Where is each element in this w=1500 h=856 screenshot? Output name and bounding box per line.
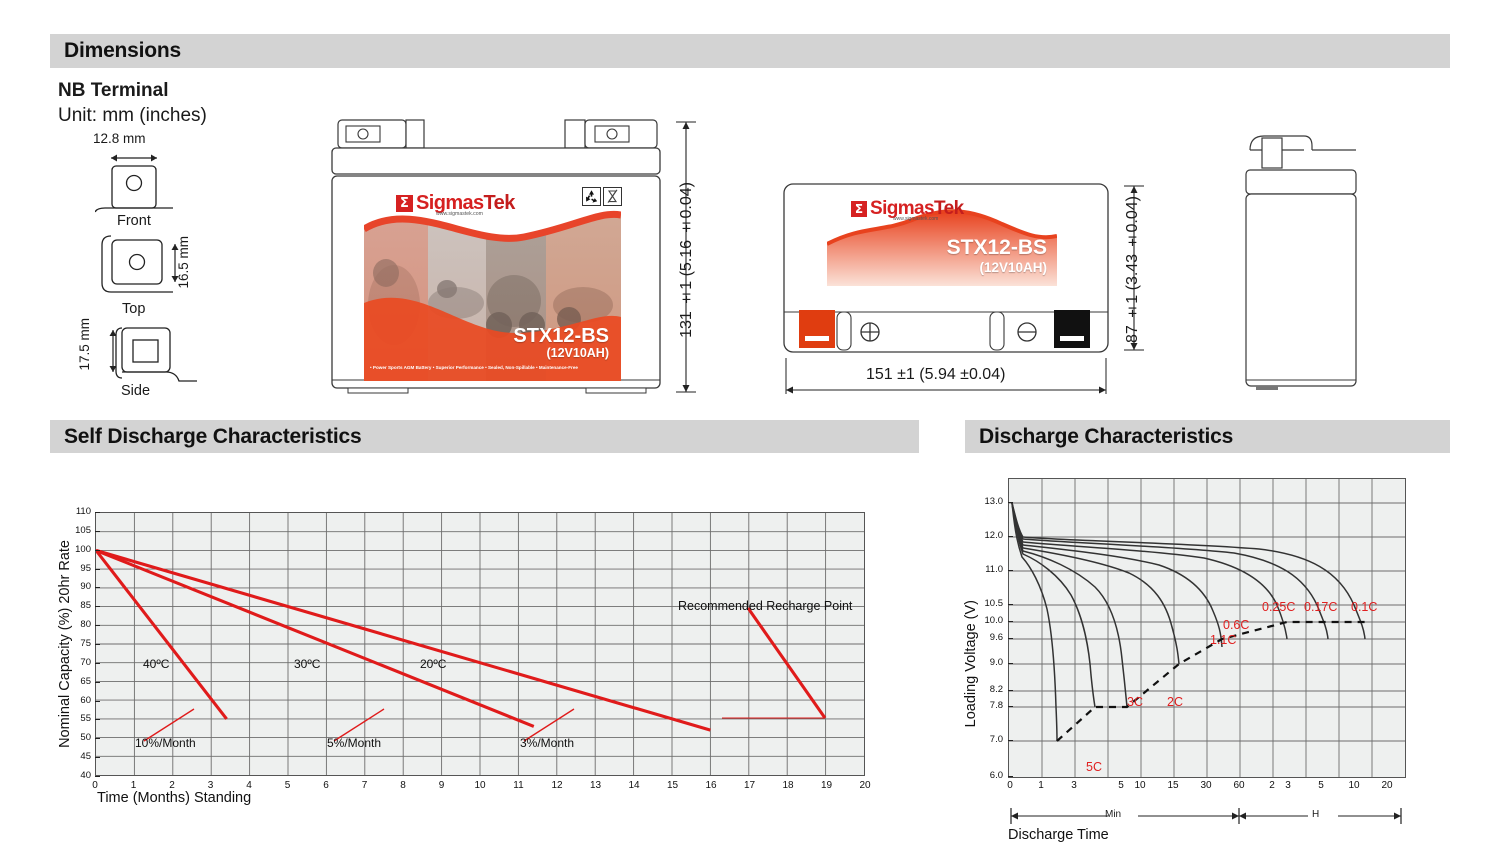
- discharge-x-tick: 3: [1062, 780, 1086, 791]
- annotation-40c: 40ºC: [143, 657, 169, 671]
- self-discharge-y-tick-mark: [95, 606, 100, 607]
- self-discharge-y-tick-mark: [95, 512, 100, 513]
- self-discharge-y-tick: 55: [63, 713, 91, 724]
- self-discharge-y-tick: 45: [63, 751, 91, 762]
- discharge-x-tick: 3: [1276, 780, 1300, 791]
- self-discharge-y-tick-mark: [95, 531, 100, 532]
- self-discharge-y-tick-mark: [95, 569, 100, 570]
- sigma-mark-icon-top: Σ: [851, 201, 867, 217]
- terminal-front-drawing: [95, 150, 225, 232]
- discharge-y-tick-mark: [1008, 621, 1013, 622]
- discharge-y-tick-mark: [1008, 740, 1013, 741]
- annotation-3pct-month: 3%/Month: [520, 736, 574, 750]
- self-discharge-plot: [95, 512, 865, 776]
- discharge-y-tick: 13.0: [970, 496, 1003, 507]
- self-discharge-x-tick: 13: [584, 780, 608, 791]
- discharge-y-tick-mark: [1008, 570, 1013, 571]
- discharge-y-tick-mark: [1008, 663, 1013, 664]
- discharge-y-tick: 7.8: [970, 700, 1003, 711]
- annotation-5pct-month: 5%/Month: [327, 736, 381, 750]
- self-discharge-x-tick: 17: [738, 780, 762, 791]
- self-discharge-x-tick: 11: [507, 780, 531, 791]
- self-discharge-x-tick: 8: [391, 780, 415, 791]
- self-discharge-y-tick-mark: [95, 682, 100, 683]
- self-discharge-y-tick: 60: [63, 695, 91, 706]
- discharge-x-tick: 5: [1309, 780, 1333, 791]
- battery-width-dim-label: 87 ±1 (3.43 ±0.04): [1124, 196, 1142, 343]
- battery-model: STX12-BS: [464, 325, 609, 348]
- self-discharge-x-tick: 15: [661, 780, 685, 791]
- curve-label-0-17c: 0.17C: [1304, 600, 1337, 614]
- discharge-x-tick: 60: [1227, 780, 1251, 791]
- terminal-view-side-label: Side: [121, 383, 150, 399]
- self-discharge-y-tick: 95: [63, 563, 91, 574]
- battery-length-dim-label: 151 ±1 (5.94 ±0.04): [866, 366, 1005, 384]
- curve-label-3c: 3C: [1127, 695, 1143, 709]
- discharge-x-tick: 10: [1128, 780, 1152, 791]
- section-header-discharge: Discharge Characteristics: [965, 420, 1450, 453]
- self-discharge-y-tick-mark: [95, 776, 100, 777]
- curve-label-5c: 5C: [1086, 760, 1102, 774]
- self-discharge-x-tick: 20: [853, 780, 877, 791]
- self-discharge-y-tick: 50: [63, 732, 91, 743]
- terminal-side-drawing: [100, 322, 230, 390]
- nb-terminal-title: NB Terminal: [58, 80, 169, 102]
- curve-label-1-1c: 1.1C: [1210, 633, 1236, 647]
- discharge-svg: [1009, 479, 1405, 777]
- axis-group-label-min: Min: [1105, 809, 1121, 820]
- self-discharge-x-tick: 12: [545, 780, 569, 791]
- sigma-mark-icon: Σ: [396, 195, 413, 212]
- self-discharge-y-tick: 105: [63, 525, 91, 536]
- section-header-dimensions: Dimensions: [50, 34, 1450, 68]
- annotation-20c: 20ºC: [420, 657, 446, 671]
- self-discharge-y-tick-mark: [95, 701, 100, 702]
- discharge-y-tick-mark: [1008, 536, 1013, 537]
- section-header-self-discharge: Self Discharge Characteristics: [50, 420, 919, 453]
- curve-label-2c: 2C: [1167, 695, 1183, 709]
- self-discharge-x-tick: 14: [622, 780, 646, 791]
- self-discharge-x-tick: 19: [815, 780, 839, 791]
- discharge-y-tick: 10.0: [970, 615, 1003, 626]
- self-discharge-x-tick: 10: [468, 780, 492, 791]
- battery-top-label: Σ SigmasTek www.sigmastek.com STX12-BS (…: [827, 192, 1057, 286]
- self-discharge-y-tick-mark: [95, 625, 100, 626]
- self-discharge-y-tick: 90: [63, 581, 91, 592]
- discharge-y-tick-mark: [1008, 690, 1013, 691]
- discharge-y-tick: 12.0: [970, 530, 1003, 541]
- unit-label: Unit: mm (inches): [58, 105, 207, 127]
- battery-front-label: Σ SigmasTek www.sigmastek.com STX12-BS (…: [364, 185, 621, 381]
- battery-height-dim-label: 131 ±1 (5.16 ±0.04): [678, 182, 696, 338]
- self-discharge-y-tick: 85: [63, 600, 91, 611]
- crossed-out-bin-icon: [603, 187, 622, 206]
- self-discharge-y-tick-mark: [95, 663, 100, 664]
- discharge-plot: [1008, 478, 1406, 778]
- self-discharge-x-tick: 16: [699, 780, 723, 791]
- discharge-y-tick: 9.6: [970, 632, 1003, 643]
- discharge-y-tick: 7.0: [970, 734, 1003, 745]
- discharge-y-tick-mark: [1008, 776, 1013, 777]
- annotation-30c: 30ºC: [294, 657, 320, 671]
- self-discharge-x-axis-title: Time (Months) Standing: [97, 790, 251, 806]
- discharge-x-tick: 15: [1161, 780, 1185, 791]
- terminal-top-drawing: [95, 232, 225, 302]
- self-discharge-svg: [96, 513, 864, 775]
- self-discharge-x-tick: 18: [776, 780, 800, 791]
- self-discharge-y-tick-mark: [95, 644, 100, 645]
- self-discharge-x-tick: 6: [314, 780, 338, 791]
- discharge-y-tick: 9.0: [970, 657, 1003, 668]
- discharge-y-tick: 10.5: [970, 598, 1003, 609]
- annotation-recommended-recharge-point: Recommended Recharge Point: [678, 599, 852, 613]
- discharge-y-tick-mark: [1008, 502, 1013, 503]
- discharge-y-tick: 11.0: [970, 564, 1003, 575]
- section-title-self-discharge: Self Discharge Characteristics: [64, 425, 361, 449]
- self-discharge-y-tick: 70: [63, 657, 91, 668]
- self-discharge-y-tick: 100: [63, 544, 91, 555]
- terminal-view-top-label: Top: [122, 301, 145, 317]
- battery-side-profile-view: [1238, 118, 1358, 396]
- discharge-x-tick: 0: [998, 780, 1022, 791]
- battery-model-top: STX12-BS: [912, 236, 1047, 260]
- annotation-10pct-month: 10%/Month: [135, 736, 196, 750]
- curve-label-0-6c: 0.6C: [1223, 618, 1249, 632]
- self-discharge-x-tick: 7: [353, 780, 377, 791]
- section-title-discharge: Discharge Characteristics: [979, 425, 1233, 449]
- self-discharge-x-tick: 9: [430, 780, 454, 791]
- discharge-x-axis-title: Discharge Time: [1008, 827, 1109, 843]
- discharge-y-tick-mark: [1008, 638, 1013, 639]
- self-discharge-y-tick-mark: [95, 719, 100, 720]
- discharge-x-tick: 20: [1375, 780, 1399, 791]
- section-title-dimensions: Dimensions: [64, 39, 181, 63]
- self-discharge-y-tick: 75: [63, 638, 91, 649]
- self-discharge-y-tick: 80: [63, 619, 91, 630]
- terminal-side-dim: 17.5 mm: [77, 318, 92, 371]
- self-discharge-y-tick: 110: [63, 506, 91, 517]
- self-discharge-y-tick-mark: [95, 550, 100, 551]
- self-discharge-y-tick-mark: [95, 757, 100, 758]
- curve-label-0-25c: 0.25C: [1262, 600, 1295, 614]
- discharge-y-tick-mark: [1008, 604, 1013, 605]
- self-discharge-y-tick-mark: [95, 587, 100, 588]
- terminal-height-dim: 16.5 mm: [176, 236, 191, 289]
- brand-url: www.sigmastek.com: [436, 211, 483, 217]
- axis-group-label-hour: H: [1312, 809, 1319, 820]
- discharge-y-tick-mark: [1008, 706, 1013, 707]
- discharge-x-tick: 30: [1194, 780, 1218, 791]
- brand-url-top: www.sigmastek.com: [893, 216, 938, 222]
- battery-tagline: • Power Sports AGM Battery • Superior Pe…: [370, 365, 578, 370]
- self-discharge-y-tick-mark: [95, 738, 100, 739]
- terminal-width-dim: 12.8 mm: [93, 131, 146, 146]
- self-discharge-y-tick: 65: [63, 676, 91, 687]
- battery-spec: (12V10AH): [464, 346, 609, 360]
- discharge-x-tick: 10: [1342, 780, 1366, 791]
- terminal-view-front-label: Front: [117, 213, 151, 229]
- curve-label-0-1c: 0.1C: [1351, 600, 1377, 614]
- discharge-x-tick: 1: [1029, 780, 1053, 791]
- discharge-y-tick: 8.2: [970, 684, 1003, 695]
- self-discharge-x-tick: 5: [276, 780, 300, 791]
- recycle-icon: [582, 187, 601, 206]
- battery-spec-top: (12V10AH): [912, 260, 1047, 275]
